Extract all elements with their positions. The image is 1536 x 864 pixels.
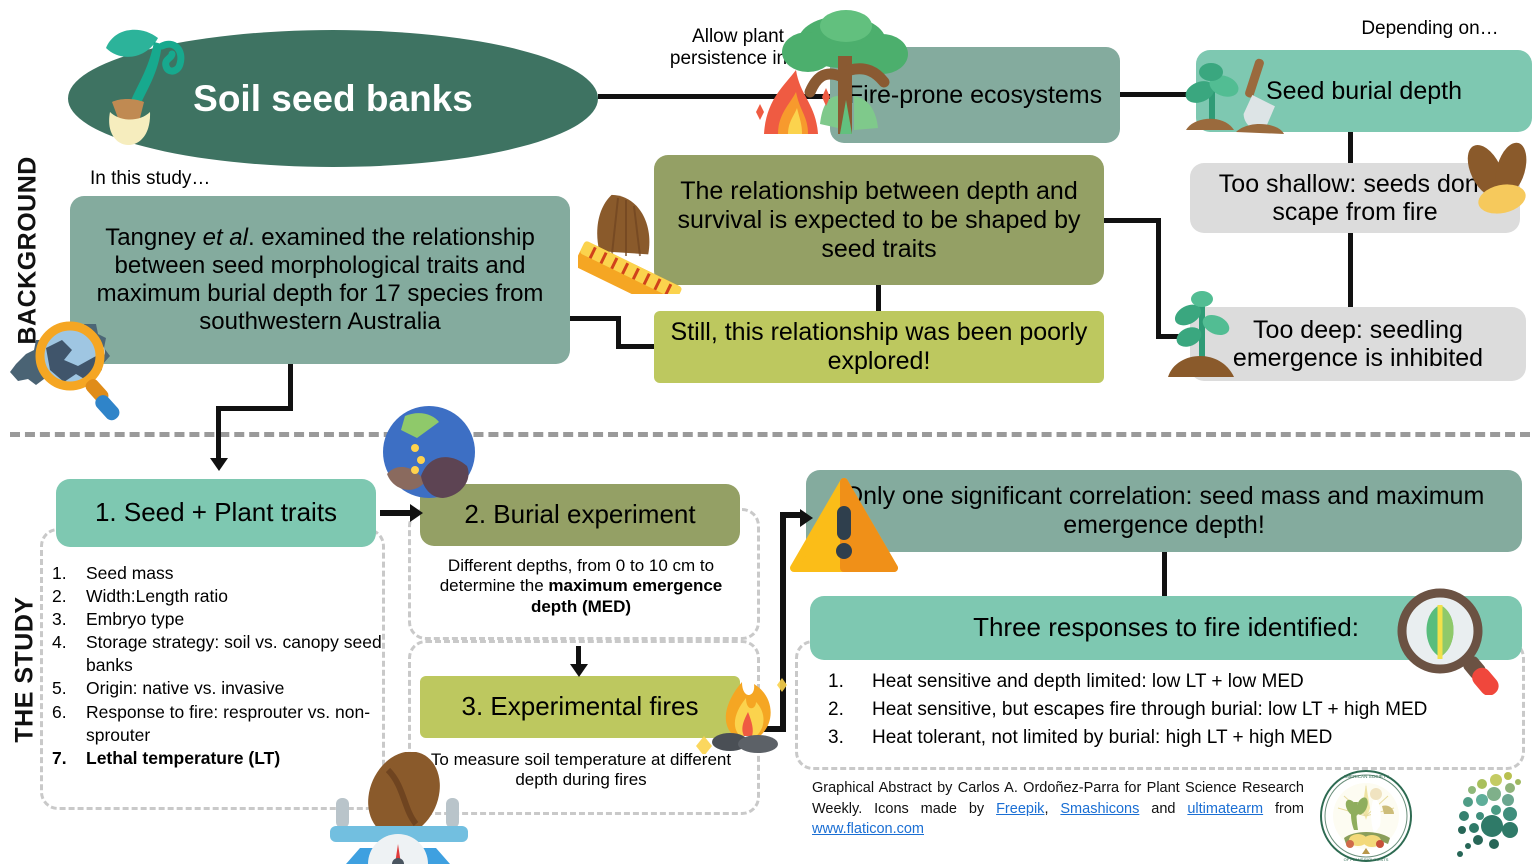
box-relationship-expected: The relationship between depth and survi… <box>654 155 1104 285</box>
note-depending-on: Depending on… <box>1330 18 1530 40</box>
connector-too-shallow-to-too-deep <box>1348 233 1353 307</box>
list-item: 5.Origin: native vs. invasive <box>52 677 382 700</box>
list-item-number: 6. <box>52 701 86 747</box>
list-item: 1.Seed mass <box>52 562 382 585</box>
caption-bold-text: maximum emergence depth (MED) <box>531 576 722 615</box>
connector-step1-to-step2 <box>380 510 412 516</box>
ruler-seed-icon <box>578 182 700 294</box>
credits-sep-1: , <box>1044 801 1060 817</box>
list-item-text: Origin: native vs. invasive <box>86 677 382 700</box>
american-society-of-plant-biologists-seal: AMERICAN SOCIETY OF PLANT BIOLOGISTS <box>1318 768 1414 864</box>
list-item-number: 5. <box>52 677 86 700</box>
box-label: Too deep: seedling emergence is inhibite… <box>1202 316 1514 372</box>
box-label: 3. Experimental fires <box>462 692 699 721</box>
list-item-number: 2. <box>828 696 872 724</box>
list-item-text: Embryo type <box>86 608 382 631</box>
section-divider <box>10 432 1530 437</box>
seal-top-text: AMERICAN SOCIETY <box>1343 774 1389 779</box>
credits-sep-3: from <box>1263 801 1304 817</box>
list-item-number: 7. <box>52 747 86 770</box>
box-study-summary: Tangney et al. examined the relationship… <box>70 196 570 364</box>
list-item-text: Storage strategy: soil vs. canopy seed b… <box>86 631 382 677</box>
box-label: 2. Burial experiment <box>464 500 695 529</box>
box-label: Too shallow: seeds don’t scape from fire <box>1202 170 1508 226</box>
connector-summary-to-poorly-h1 <box>570 316 620 321</box>
box-step1-seed-plant-traits: 1. Seed + Plant traits <box>56 479 376 547</box>
list-item: 4.Storage strategy: soil vs. canopy seed… <box>52 631 382 677</box>
sprout-seed-icon <box>62 6 192 146</box>
list-item-number: 3. <box>52 608 86 631</box>
box-results-headline: Only one significant correlation: seed m… <box>806 470 1522 552</box>
list-item-number: 1. <box>828 668 872 696</box>
connector-summary-down-v <box>288 364 293 410</box>
connector-headline-to-responses <box>1162 552 1167 596</box>
warning-triangle-icon <box>790 478 898 574</box>
box-label: Three responses to fire identified: <box>973 613 1359 642</box>
section-label-the-study: THE STUDY <box>11 590 40 750</box>
box-label: Seed burial depth <box>1266 77 1462 105</box>
box-label: Tangney et al. examined the relationship… <box>82 224 558 335</box>
campfire-icon <box>690 644 800 754</box>
link-freepik[interactable]: Freepik <box>996 801 1044 817</box>
shovel-planting-icon <box>1178 52 1288 142</box>
magnifier-leaf-icon <box>1392 585 1502 695</box>
list-item-number: 4. <box>52 631 86 677</box>
list-item-number: 1. <box>52 562 86 585</box>
caption-step2: Different depths, from 0 to 10 cm to det… <box>416 556 746 617</box>
box-poorly-explored: Still, this relationship was been poorly… <box>654 311 1104 383</box>
credits-sep-2: and <box>1139 801 1187 817</box>
connector-expected-to-poorly <box>876 285 881 313</box>
list-traits: 1.Seed mass 2.Width:Length ratio 3.Embry… <box>52 562 382 770</box>
box-label: Still, this relationship was been poorly… <box>666 318 1092 376</box>
arrowhead-to-step3 <box>570 664 588 677</box>
list-item-text: Heat tolerant, not limited by burial: hi… <box>872 724 1518 752</box>
link-ultimatearm[interactable]: ultimatearm <box>1187 801 1263 817</box>
tree-fire-icon <box>742 4 924 154</box>
credits-text: Graphical Abstract by Carlos A. Ordoñez-… <box>812 778 1304 840</box>
box-label: The relationship between depth and survi… <box>666 177 1092 264</box>
arrowhead-to-step2 <box>410 504 423 522</box>
list-item: 3.Embryo type <box>52 608 382 631</box>
list-item-text: Seed mass <box>86 562 382 585</box>
list-item: 2.Width:Length ratio <box>52 585 382 608</box>
connector-summary-down-h <box>216 406 293 411</box>
seal-bottom-text: OF PLANT BIOLOGISTS <box>1344 857 1389 862</box>
arrowhead-to-step1 <box>210 458 228 471</box>
dotted-leaf-logo <box>1438 768 1534 860</box>
list-item: 6.Response to fire: resprouter vs. non-s… <box>52 701 382 747</box>
soil-layers-globe-icon <box>381 404 477 500</box>
magnifier-gears-icon <box>8 298 132 422</box>
note-in-this-study: In this study… <box>90 168 210 190</box>
weighing-scale-seed-icon <box>318 752 490 864</box>
connector-burial-to-too-shallow <box>1348 132 1353 164</box>
box-label: Only one significant correlation: seed m… <box>818 482 1510 540</box>
seedling-in-soil-icon <box>1158 285 1248 383</box>
graphical-abstract-canvas: BACKGROUND THE STUDY Soil seed banks All… <box>0 0 1536 864</box>
list-item: 2.Heat sensitive, but escapes fire throu… <box>828 696 1518 724</box>
list-item-text: Heat sensitive, but escapes fire through… <box>872 696 1518 724</box>
seeds-icon <box>1466 133 1536 225</box>
list-item: 3.Heat tolerant, not limited by burial: … <box>828 724 1518 752</box>
link-smashicons[interactable]: Smashicons <box>1060 801 1139 817</box>
list-item-text: Response to fire: resprouter vs. non-spr… <box>86 701 382 747</box>
list-item-number: 2. <box>52 585 86 608</box>
list-item-text: Width:Length ratio <box>86 585 382 608</box>
connector-summary-down-v2 <box>216 406 221 460</box>
connector-expected-to-right-h1 <box>1104 218 1160 223</box>
italic-et-al: et al <box>203 224 248 251</box>
box-label: 1. Seed + Plant traits <box>95 498 337 527</box>
connector-summary-to-poorly-h2 <box>616 344 658 349</box>
link-flaticon[interactable]: www.flaticon.com <box>812 821 924 837</box>
list-item-number: 3. <box>828 724 872 752</box>
